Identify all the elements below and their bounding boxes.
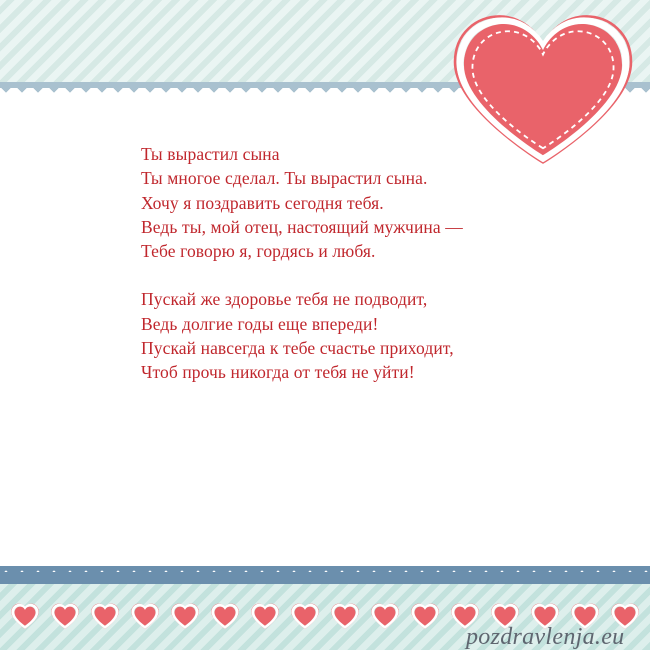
decorative-heart-small-icon — [130, 601, 160, 631]
poem-line: Чтоб прочь никогда от тебя не уйти! — [141, 360, 571, 384]
poem-line: Ведь долгие годы еще впереди! — [141, 312, 571, 336]
decorative-heart-small-icon — [90, 601, 120, 631]
decorative-heart-small-icon — [170, 601, 200, 631]
decorative-heart-small-icon — [10, 601, 40, 631]
decorative-heart-small-icon — [370, 601, 400, 631]
poem-title-block: Ты вырастил сына Ты многое сделал. Ты вы… — [141, 142, 571, 263]
greeting-card: Ты вырастил сына Ты многое сделал. Ты вы… — [0, 0, 650, 650]
poem-line: Пускай же здоровье тебя не подводит, — [141, 287, 571, 311]
poem-line: Тебе говорю я, гордясь и любя. — [141, 239, 571, 263]
poem-line: Ты многое сделал. Ты вырастил сына. — [141, 166, 571, 190]
poem-line: Пускай навсегда к тебе счастье приходит, — [141, 336, 571, 360]
watermark-text: pozdravlenja.eu — [466, 624, 624, 650]
poem-stanza-two: Пускай же здоровье тебя не подводит, Вед… — [141, 287, 571, 384]
bottom-zigzag-edge — [0, 566, 650, 574]
decorative-heart-small-icon — [410, 601, 440, 631]
poem-line: Хочу я поздравить сегодня тебя. — [141, 191, 571, 215]
decorative-heart-small-icon — [330, 601, 360, 631]
poem-text: Ты вырастил сына Ты многое сделал. Ты вы… — [141, 142, 571, 385]
decorative-heart-small-icon — [290, 601, 320, 631]
poem-line: Ведь ты, мой отец, настоящий мужчина — — [141, 215, 571, 239]
decorative-heart-small-icon — [210, 601, 240, 631]
decorative-heart-small-icon — [50, 601, 80, 631]
stanza-separator — [141, 263, 571, 287]
poem-title: Ты вырастил сына — [141, 142, 571, 166]
decorative-heart-small-icon — [250, 601, 280, 631]
